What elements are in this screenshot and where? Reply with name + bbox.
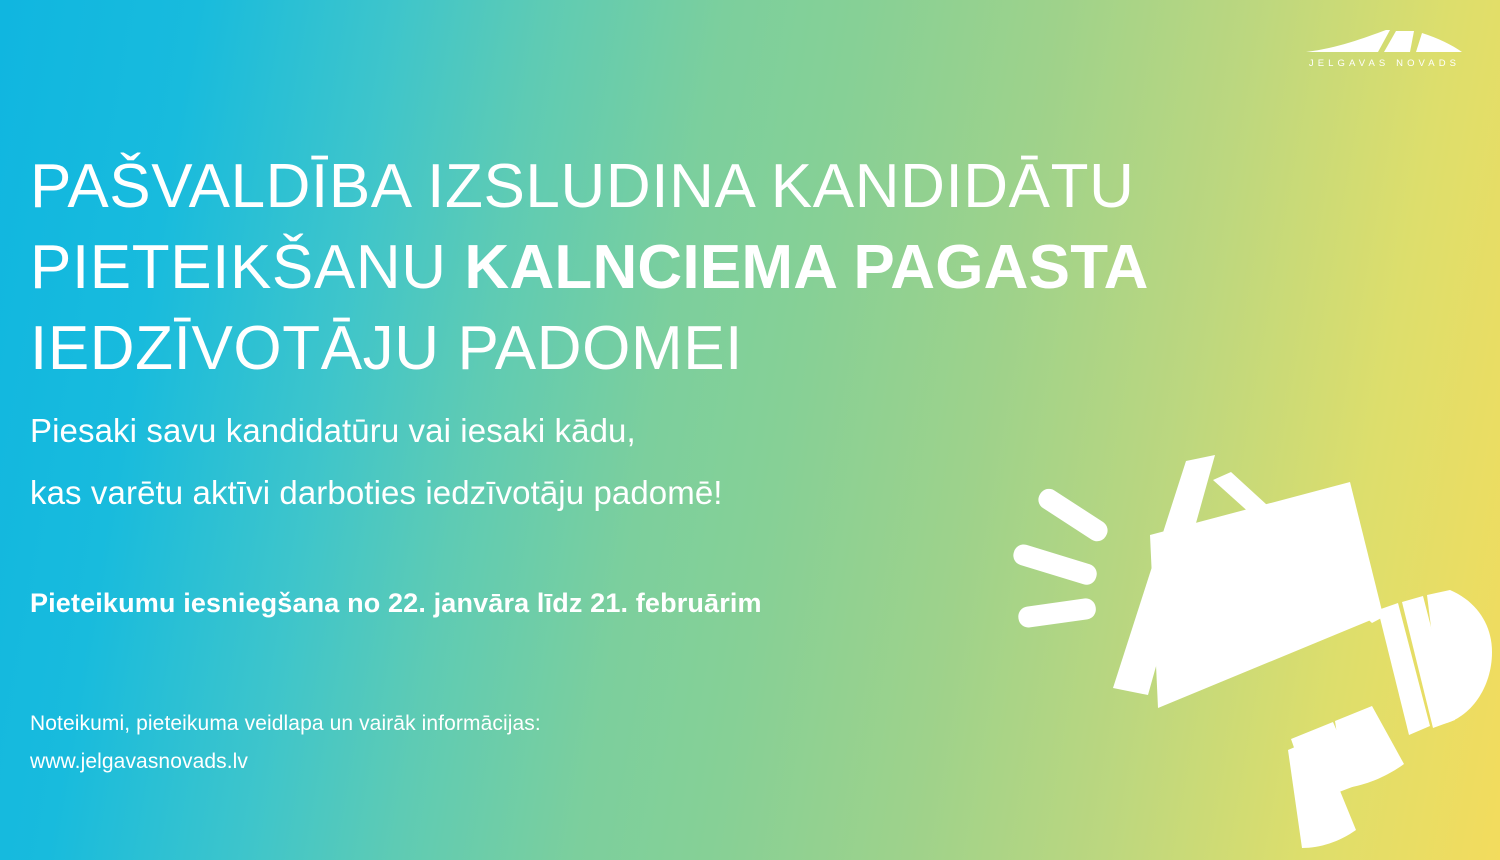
lead-line-2: kas varētu aktīvi darboties iedzīvotāju … (30, 462, 723, 524)
headline-line-2-light: PIETEIKŠANU (30, 233, 464, 302)
footer-line-1: Noteikumi, pieteikuma veidlapa un vairāk… (30, 705, 541, 743)
brand-logo-text: JELGAVAS NOVADS (1298, 58, 1468, 69)
megaphone-illustration (1000, 430, 1500, 860)
brand-logo: JELGAVAS NOVADS (1298, 26, 1468, 72)
lead-paragraph: Piesaki savu kandidatūru vai iesaki kādu… (30, 400, 723, 524)
footer-info: Noteikumi, pieteikuma veidlapa un vairāk… (30, 705, 541, 781)
headline-line-3: IEDZĪVOTĀJU PADOMEI (30, 308, 1270, 389)
headline-line-1: PAŠVALDĪBA IZSLUDINA KANDIDĀTU (30, 146, 1270, 227)
website-url[interactable]: www.jelgavasnovads.lv (30, 743, 541, 781)
lead-line-1: Piesaki savu kandidatūru vai iesaki kādu… (30, 400, 723, 462)
deadline-text: Pieteikumu iesniegšana no 22. janvāra lī… (30, 588, 762, 619)
sound-wave-lines (1011, 485, 1112, 629)
poster-canvas: JELGAVAS NOVADS PAŠVALDĪBA IZSLUDINA KAN… (0, 0, 1500, 860)
headline-line-2-bold: KALNCIEMA PAGASTA (464, 233, 1148, 302)
jelgavas-novads-hill-logo-icon (1298, 26, 1468, 56)
page-title: PAŠVALDĪBA IZSLUDINA KANDIDĀTU PIETEIKŠA… (30, 146, 1270, 389)
headline-line-2: PIETEIKŠANU KALNCIEMA PAGASTA (30, 227, 1270, 308)
megaphone-icon (1000, 430, 1500, 860)
